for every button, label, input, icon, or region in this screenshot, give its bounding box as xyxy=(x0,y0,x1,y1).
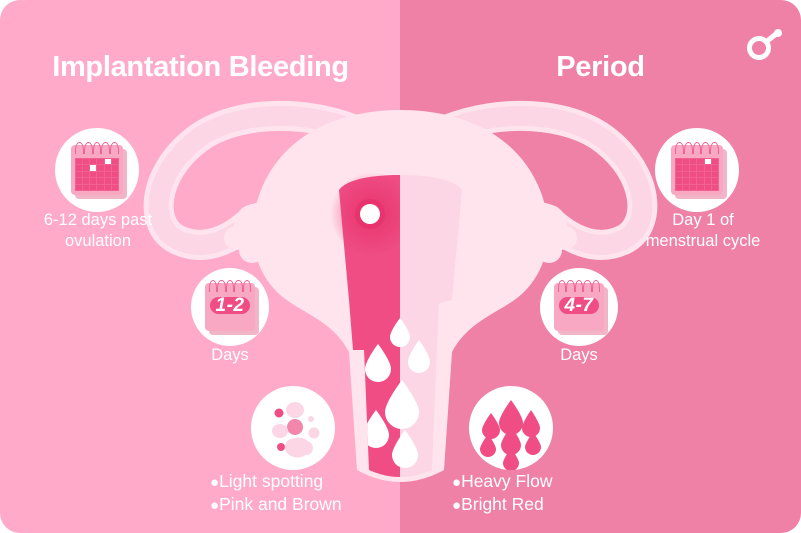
right-flow-badge xyxy=(469,386,553,470)
bullet-glyph: ● xyxy=(210,497,219,514)
heavy-flow-droplets-icon xyxy=(469,386,553,470)
page-title-right: Period xyxy=(400,52,801,84)
left-calendar-badge xyxy=(55,128,139,212)
right-bullet-1: Bright Red xyxy=(461,494,544,514)
calendar-rings xyxy=(209,280,251,291)
right-days-badge: 4-7 xyxy=(540,268,618,346)
infographic-root: Implantation Bleeding Period xyxy=(0,0,801,533)
calendar-icon xyxy=(671,145,723,195)
bullet-glyph: ● xyxy=(452,474,461,491)
left-days-badge: 1-2 xyxy=(191,268,269,346)
calendar-icon xyxy=(71,145,123,195)
left-days-value: 1-2 xyxy=(210,297,250,313)
calendar-days-icon: 1-2 xyxy=(205,283,255,331)
calendar-days-icon: 4-7 xyxy=(554,283,604,331)
right-days-label: Days xyxy=(519,345,639,366)
right-days-value: 4-7 xyxy=(559,297,599,313)
calendar-rings xyxy=(675,142,719,153)
calendar-rings xyxy=(75,142,119,153)
page-title-left: Implantation Bleeding xyxy=(0,52,401,84)
left-bullet-list: ●Light spotting ●Pink and Brown xyxy=(210,470,342,516)
right-bullet-0: Heavy Flow xyxy=(461,471,552,491)
calendar-grid xyxy=(675,158,720,191)
bullet-glyph: ● xyxy=(452,497,461,514)
left-days-label: Days xyxy=(170,345,290,366)
left-flow-badge xyxy=(251,386,335,470)
left-bullet-1: Pink and Brown xyxy=(219,494,342,514)
bullet-glyph: ● xyxy=(210,474,219,491)
calendar-grid xyxy=(75,158,120,191)
right-calendar-caption: Day 1 of menstrual cycle xyxy=(608,210,798,252)
left-calendar-caption: 6-12 days past ovulation xyxy=(8,210,188,252)
light-spotting-icon xyxy=(251,386,335,470)
right-calendar-badge xyxy=(655,128,739,212)
calendar-rings xyxy=(558,280,600,291)
venus-mars-logo-icon xyxy=(745,28,785,62)
right-bullet-list: ●Heavy Flow ●Bright Red xyxy=(452,470,552,516)
left-bullet-0: Light spotting xyxy=(219,471,323,491)
